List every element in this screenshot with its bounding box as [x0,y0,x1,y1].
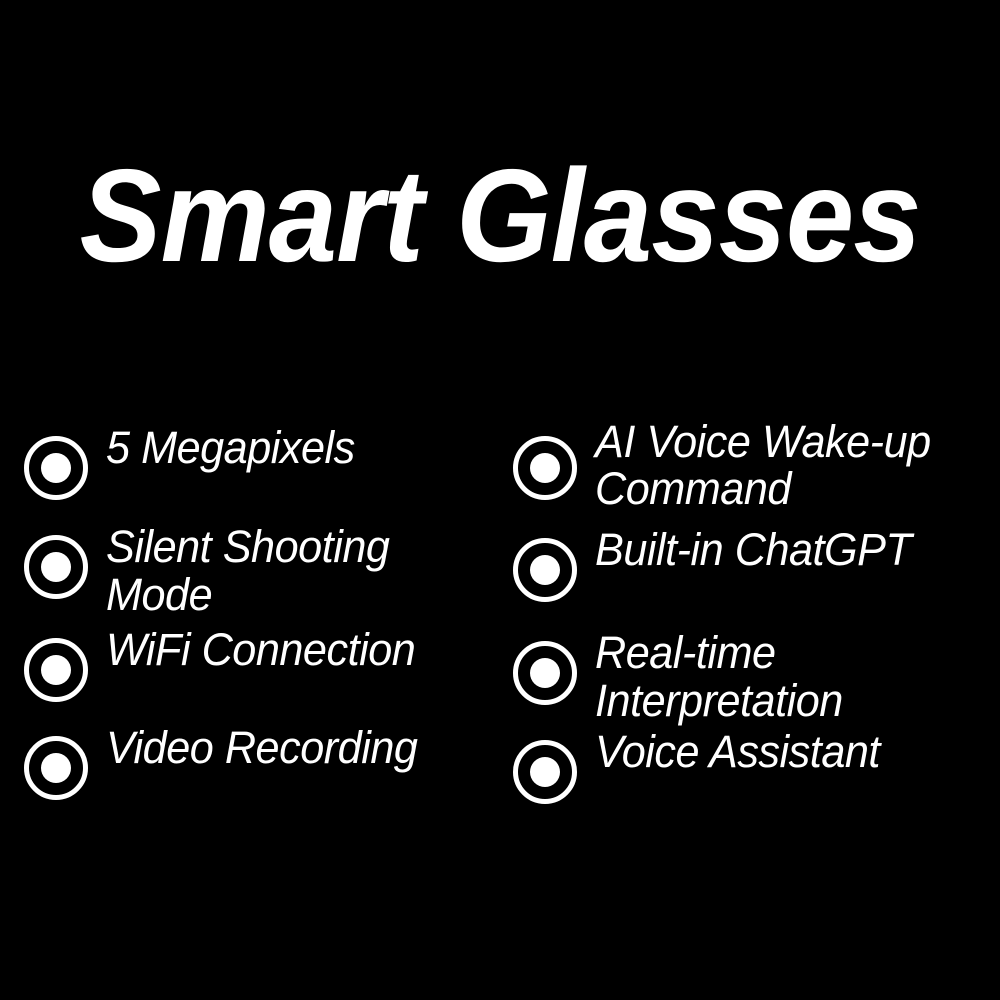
feature-column-left: 5 Megapixels Silent Shooting Mode WiFi C… [24,396,494,816]
feature-label: Video Recording [106,724,417,772]
feature-label: Silent Shooting Mode [106,523,478,619]
bullet-inner-dot [41,655,71,685]
filled-ring-bullet-icon [24,436,88,500]
filled-ring-bullet-icon [513,641,577,705]
feature-item: Built-in ChatGPT [513,518,1000,602]
bullet-inner-dot [530,658,560,688]
feature-label: Built-in ChatGPT [595,526,911,574]
feature-label: Real-time Interpretation [595,629,984,725]
bullet-inner-dot [530,757,560,787]
filled-ring-bullet-icon [513,436,577,500]
feature-item: Real-time Interpretation [513,621,1000,725]
bullet-inner-dot [41,552,71,582]
feature-item: 5 Megapixels [24,416,494,500]
page-title-container: Smart Glasses [0,150,1000,282]
page-title: Smart Glasses [80,150,921,282]
bullet-inner-dot [41,753,71,783]
filled-ring-bullet-icon [513,740,577,804]
feature-item: Video Recording [24,716,494,800]
feature-item: WiFi Connection [24,618,494,702]
feature-list: 5 Megapixels Silent Shooting Mode WiFi C… [0,396,1000,816]
feature-label: AI Voice Wake-up Command [595,418,931,512]
filled-ring-bullet-icon [24,638,88,702]
feature-label: WiFi Connection [106,626,415,674]
feature-item: AI Voice Wake-up Command [513,416,1000,512]
smart-glasses-feature-poster: Smart Glasses 5 Megapixels Silent Shooti… [0,0,1000,1000]
filled-ring-bullet-icon [24,535,88,599]
filled-ring-bullet-icon [24,736,88,800]
feature-label: 5 Megapixels [106,424,355,472]
feature-item: Silent Shooting Mode [24,515,494,619]
feature-column-right: AI Voice Wake-up Command Built-in ChatGP… [513,396,1000,816]
feature-item: Voice Assistant [513,720,1000,804]
bullet-inner-dot [530,555,560,585]
feature-label: Voice Assistant [595,728,880,776]
bullet-inner-dot [530,453,560,483]
bullet-inner-dot [41,453,71,483]
filled-ring-bullet-icon [513,538,577,602]
